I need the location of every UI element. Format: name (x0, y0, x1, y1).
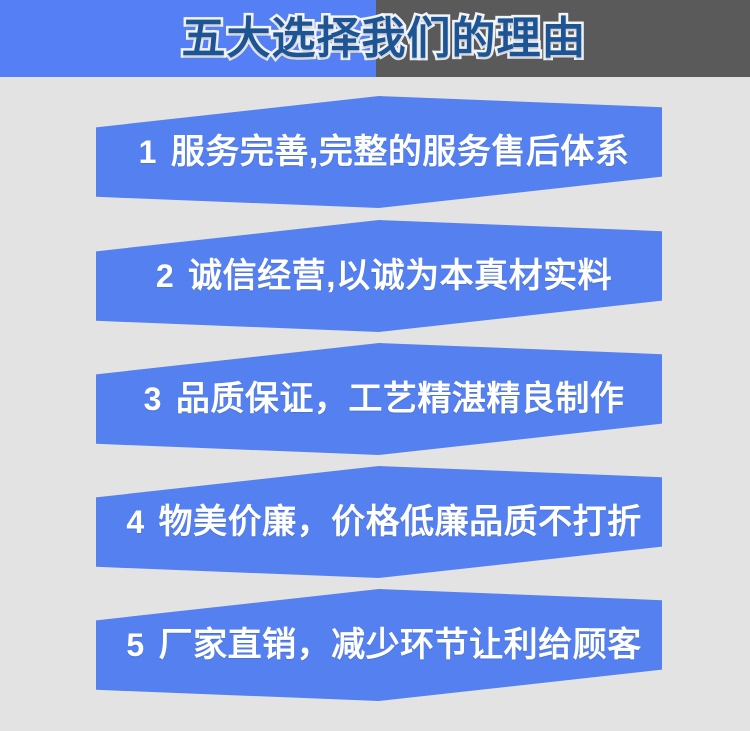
reason-item-4[interactable]: 4 物美价廉，价格低廉品质不打折 (0, 466, 750, 586)
reason-text: 4 物美价廉，价格低廉品质不打折 (96, 466, 662, 578)
reason-label: 品质保证，工艺精湛精良制作 (176, 382, 625, 416)
reason-number: 5 (126, 629, 144, 661)
page-title: 五大选择我们的理由 (0, 0, 750, 77)
reason-label: 服务完善,完整的服务售后体系 (171, 135, 629, 169)
reason-text: 2 诚信经营,以诚为本真材实料 (96, 220, 662, 332)
reason-label: 诚信经营,以诚为本真材实料 (188, 259, 612, 293)
reason-number: 4 (126, 506, 144, 538)
reason-number: 3 (144, 383, 162, 415)
reason-label: 物美价廉，价格低廉品质不打折 (159, 505, 642, 539)
reason-item-3[interactable]: 3 品质保证，工艺精湛精良制作 (0, 343, 750, 463)
reason-item-1[interactable]: 1 服务完善,完整的服务售后体系 (0, 96, 750, 216)
reason-label: 厂家直销，减少环节让利给顾客 (159, 628, 642, 662)
promo-banner-page: 五大选择我们的理由 1 服务完善,完整的服务售后体系 2 诚信经营,以诚为本真材… (0, 0, 750, 731)
reason-text: 5 厂家直销，减少环节让利给顾客 (96, 589, 662, 701)
reason-text: 3 品质保证，工艺精湛精良制作 (96, 343, 662, 455)
reason-item-2[interactable]: 2 诚信经营,以诚为本真材实料 (0, 220, 750, 340)
reason-text: 1 服务完善,完整的服务售后体系 (96, 96, 662, 208)
reason-list: 1 服务完善,完整的服务售后体系 2 诚信经营,以诚为本真材实料 3 品质保证，… (0, 77, 750, 731)
reason-item-5[interactable]: 5 厂家直销，减少环节让利给顾客 (0, 589, 750, 709)
reason-number: 1 (139, 136, 157, 168)
reason-number: 2 (156, 260, 174, 292)
page-header: 五大选择我们的理由 (0, 0, 750, 77)
